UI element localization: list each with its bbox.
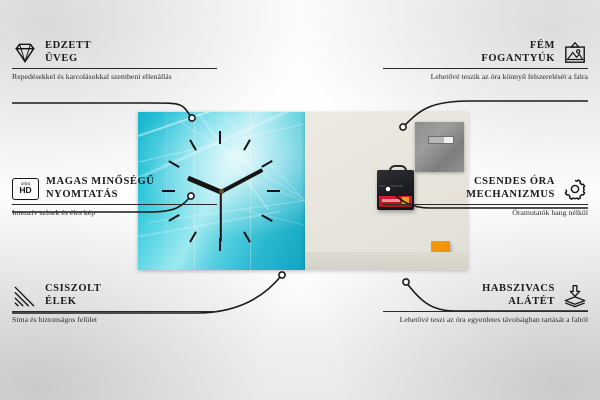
- callout-description: Lehetővé teszik az óra könnyű felszerelé…: [383, 72, 588, 82]
- callout-title-line2: ÜVEG: [45, 53, 78, 64]
- callout-divider: [12, 68, 217, 69]
- infographic-canvas: EDZETT ÜVEG Repedésekkel és karcolásokka…: [0, 0, 600, 400]
- callout-divider: [383, 204, 588, 205]
- diamond-icon: [12, 41, 38, 65]
- callout-description: Repedésekkel és karcolásokkal szembeni e…: [12, 72, 217, 82]
- polished-edges-icon: [12, 284, 38, 308]
- callout-title-line2: MECHANIZMUS: [466, 189, 555, 200]
- clock-tick: [219, 131, 221, 144]
- callout-polished-edges: CSISZOLT ÉLEK Sima és biztonságos felüle…: [12, 283, 217, 325]
- connector-dot-polished-edges: [279, 272, 285, 278]
- callout-divider: [383, 311, 588, 312]
- callout-foam-pad: HABSZIVACS ALÁTÉT Lehetővé teszi az óra …: [383, 283, 588, 325]
- callout-title-line2: ÉLEK: [45, 296, 77, 307]
- callout-title-line1: CSISZOLT: [45, 283, 101, 294]
- ultra-hd-icon-large-text: HD: [19, 186, 31, 195]
- callout-divider: [383, 68, 588, 69]
- callout-divider: [12, 204, 217, 205]
- callout-title-line1: EDZETT: [45, 40, 91, 51]
- foam-layers-icon: [562, 284, 588, 308]
- callout-description: Óramutatók hang nélkül: [383, 208, 588, 218]
- callout-title-line2: ALÁTÉT: [508, 296, 555, 307]
- mechanism-hook: [389, 165, 407, 175]
- callout-title-line1: FÉM: [530, 40, 555, 51]
- callout-title-line2: FOGANTYÚK: [481, 53, 555, 64]
- clock-center-hub: [219, 189, 224, 194]
- surface-shadow: [305, 252, 468, 270]
- callout-tempered-glass: EDZETT ÜVEG Repedésekkel és karcolásokka…: [12, 40, 217, 82]
- callout-title-line1: MAGAS MINŐSÉGŰ: [46, 176, 154, 187]
- callout-title-line1: HABSZIVACS: [482, 283, 555, 294]
- clock-tick: [267, 190, 280, 192]
- hanger-slot: [428, 136, 454, 144]
- gear-icon: [562, 177, 588, 201]
- callout-high-quality-print: ultra HD MAGAS MINŐSÉGŰ NYOMTATÁS Intenz…: [12, 176, 217, 218]
- callout-divider: [12, 311, 217, 312]
- callout-silent-mechanism: CSENDES ÓRA MECHANIZMUS Óramutatók hang …: [383, 176, 588, 218]
- callout-metal-handles: FÉM FOGANTYÚK Lehetővé teszik az óra kön…: [383, 40, 588, 82]
- callout-title-line2: NYOMTATÁS: [46, 189, 118, 200]
- picture-hanger-icon: [562, 41, 588, 65]
- callout-description: Lehetővé teszi az óra egyenletes távolsá…: [383, 315, 588, 325]
- clock-second-hand: [220, 192, 222, 242]
- callout-description: Sima és biztonságos felület: [12, 315, 217, 325]
- callout-description: Intenzív színek és éles kép: [12, 208, 217, 218]
- callout-title-line1: CSENDES ÓRA: [474, 176, 555, 187]
- metal-hanger-plate: [415, 122, 464, 172]
- ultra-hd-icon: ultra HD: [12, 178, 39, 200]
